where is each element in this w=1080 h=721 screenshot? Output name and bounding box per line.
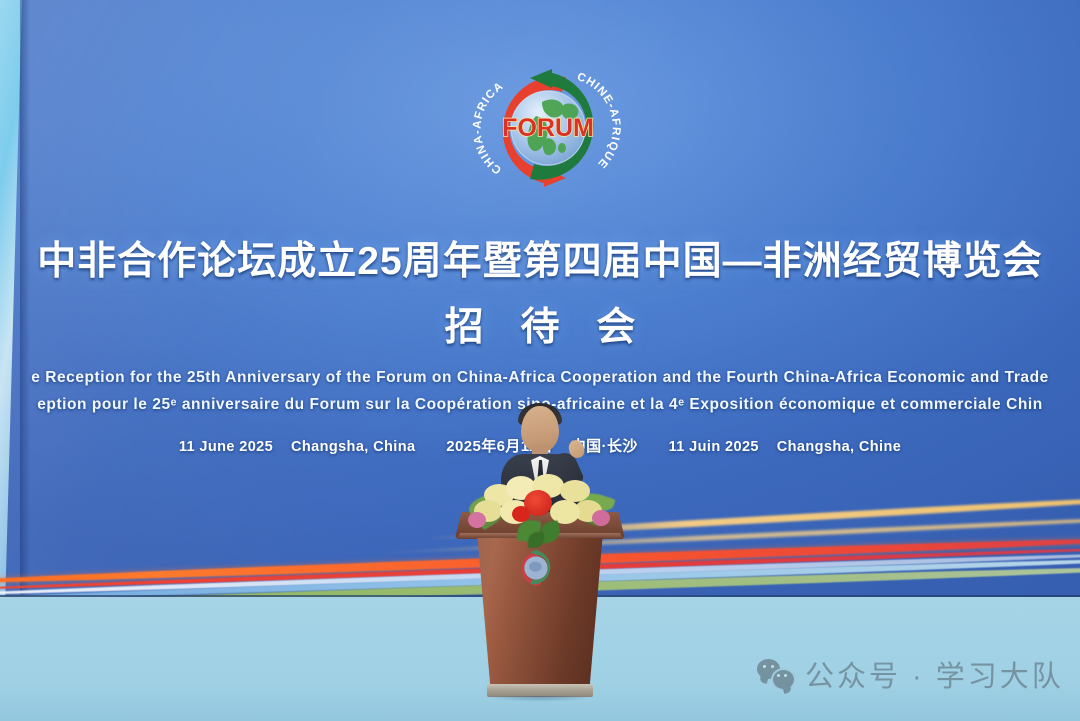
logo-arc-label-left: CHINA-AFRICA [471,80,506,176]
china-africa-forum-logo: FORUM CHINA-AFRICA CHINE-AFRIQUE [470,52,626,204]
podium-forum-emblem [511,544,561,592]
title-chinese-line1: 中非合作论坛成立25周年暨第四届中国—非洲经贸博览会 [0,236,1080,288]
city-french: Changsha, Chine [777,439,901,455]
wechat-icon [757,659,793,689]
podium-base-shadow [485,696,595,702]
date-english: 11 June 2025 [179,439,273,455]
subtitle-english: e Reception for the 25th Anniversary of … [0,369,1080,387]
city-english: Changsha, China [291,439,415,455]
wechat-watermark: 公众号 · 学习大队 [757,653,1064,695]
logo-forum-text: FORUM [502,114,594,142]
screenshot-root: FORUM CHINA-AFRICA CHINE-AFRIQUE 中非合作论坛成… [0,0,1080,721]
title-chinese-line2: 招 待 会 [0,296,1080,352]
podium-flower-arrangement [466,470,616,548]
date-french: 11 Juin 2025 [669,439,759,455]
watermark-text: 公众号 · 学习大队 [805,653,1064,695]
